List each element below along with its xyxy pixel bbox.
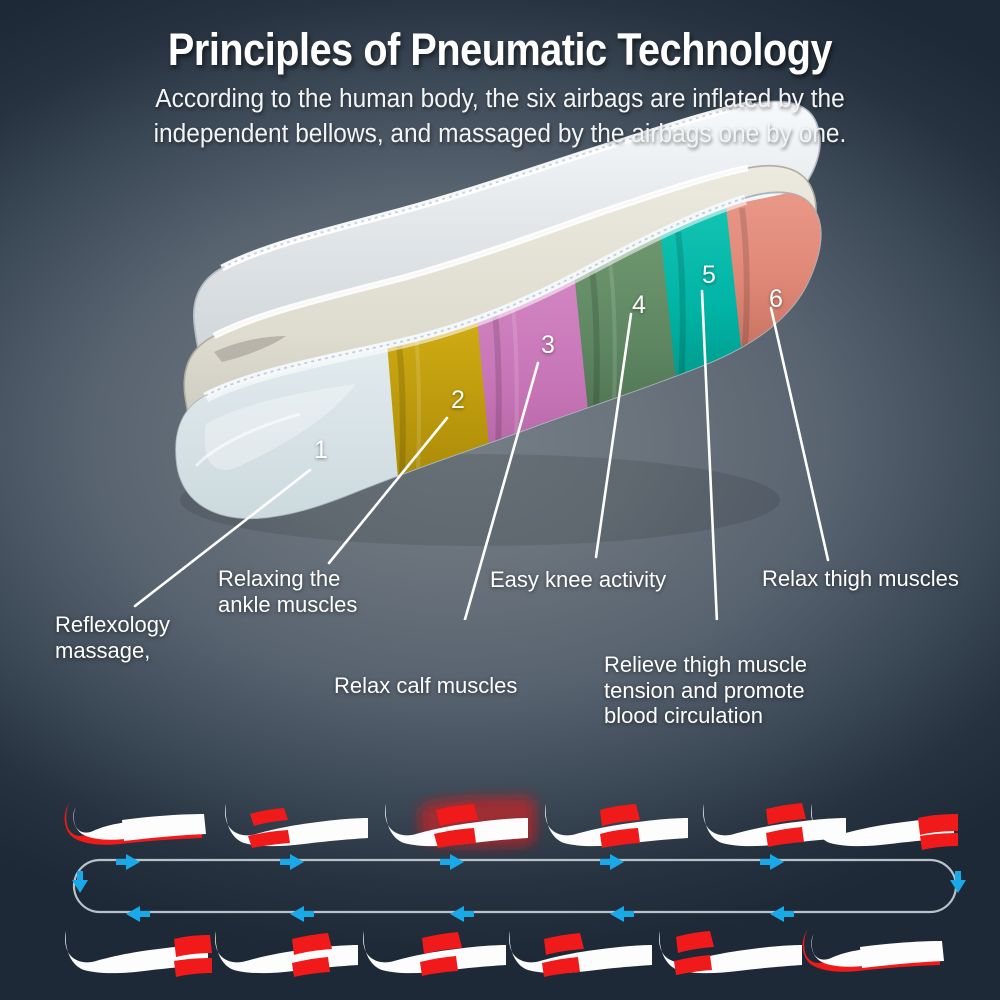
flow-legs-bottom	[65, 929, 944, 977]
airbag-number-6: 6	[769, 287, 783, 312]
flow-leg-icon-4	[545, 804, 688, 848]
flow-leg-icon-2	[225, 804, 368, 848]
header: Principles of Pneumatic Technology Accor…	[0, 0, 1000, 151]
flow-leg-icon-10	[509, 931, 652, 977]
airbag-label-2: Relaxing the ankle muscles	[218, 566, 357, 617]
flow-track	[74, 860, 956, 912]
airbag-number-3: 3	[541, 333, 555, 358]
flow-arrows-bottom	[126, 906, 794, 922]
pneumatic-technology-infographic: Principles of Pneumatic Technology Accor…	[0, 0, 1000, 1000]
airbag-label-4: Easy knee activity	[490, 567, 666, 593]
subtitle-line-2: independent bellows, and massaged by the…	[20, 117, 980, 151]
flow-arrows-turn	[72, 871, 966, 893]
flow-arrows-top	[116, 854, 784, 870]
subtitle-line-1: According to the human body, the six air…	[20, 82, 980, 116]
page-subtitle: According to the human body, the six air…	[20, 82, 980, 151]
flow-leg-icon-11	[659, 931, 802, 975]
airbag-number-5: 5	[702, 263, 716, 288]
massage-sequence-flow-diagram	[0, 770, 1000, 1000]
airbag-number-4: 4	[632, 293, 646, 318]
leader-line-6	[771, 308, 828, 560]
airbag-number-2: 2	[451, 388, 465, 413]
airbag-label-3: Relax calf muscles	[334, 673, 517, 699]
airbag-label-5: Relieve thigh muscle tension and promote…	[604, 652, 807, 729]
flow-leg-icon-5	[703, 803, 846, 847]
flow-leg-icon-1	[65, 802, 206, 845]
airbag-number-1: 1	[314, 438, 328, 463]
flow-leg-icon-7	[65, 931, 212, 977]
flow-leg-icon-12	[803, 929, 944, 972]
flow-leg-icon-3	[385, 800, 532, 848]
page-title: Principles of Pneumatic Technology	[60, 26, 940, 73]
flow-legs-top	[65, 800, 958, 850]
airbag-label-6: Relax thigh muscles	[762, 566, 959, 592]
flow-leg-icon-8	[215, 931, 358, 977]
airbag-label-1: Reflexology massage,	[55, 612, 170, 663]
flow-leg-icon-9	[363, 931, 506, 976]
